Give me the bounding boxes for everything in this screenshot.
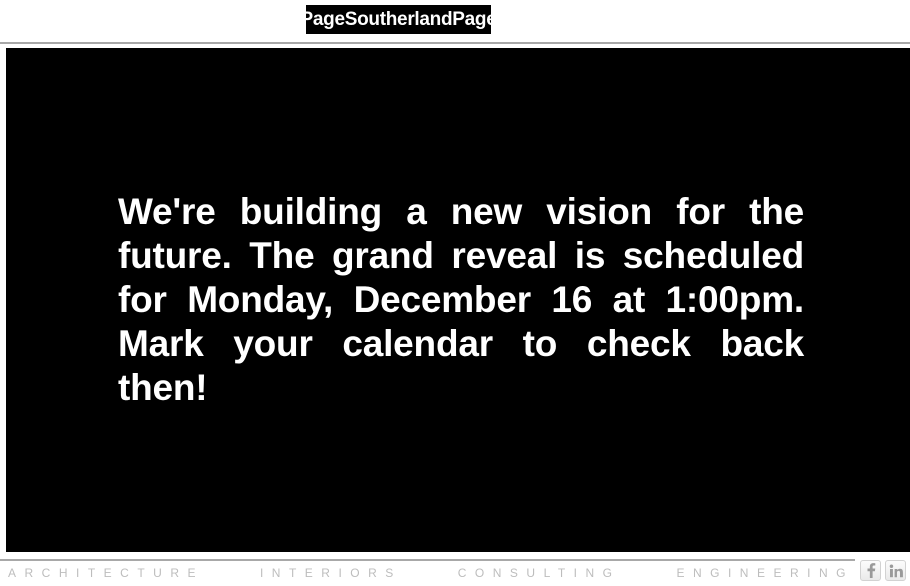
- discipline-engineering: ENGINEERING: [676, 565, 854, 581]
- hero-panel: We're building a new vision for the futu…: [6, 48, 910, 552]
- hero-content: We're building a new vision for the futu…: [112, 48, 804, 552]
- discipline-architecture: ARCHITECTURE: [8, 565, 204, 581]
- header-divider: [0, 42, 910, 44]
- site-logo[interactable]: PageSoutherlandPage: [306, 5, 491, 34]
- site-logo-text: PageSoutherlandPage: [301, 10, 497, 30]
- discipline-consulting: CONSULTING: [458, 565, 621, 581]
- page-root: PageSoutherlandPage We're building a new…: [0, 0, 910, 586]
- linkedin-icon[interactable]: [885, 560, 906, 581]
- facebook-icon[interactable]: [860, 560, 881, 581]
- site-header: PageSoutherlandPage: [0, 0, 910, 44]
- discipline-interiors: INTERIORS: [260, 565, 402, 581]
- footer-divider: [0, 559, 855, 561]
- discipline-list: ARCHITECTURE INTERIORS CONSULTING ENGINE…: [8, 565, 854, 581]
- coming-soon-message: We're building a new vision for the futu…: [112, 190, 804, 410]
- site-footer: ARCHITECTURE INTERIORS CONSULTING ENGINE…: [0, 552, 910, 586]
- social-links: [860, 560, 906, 581]
